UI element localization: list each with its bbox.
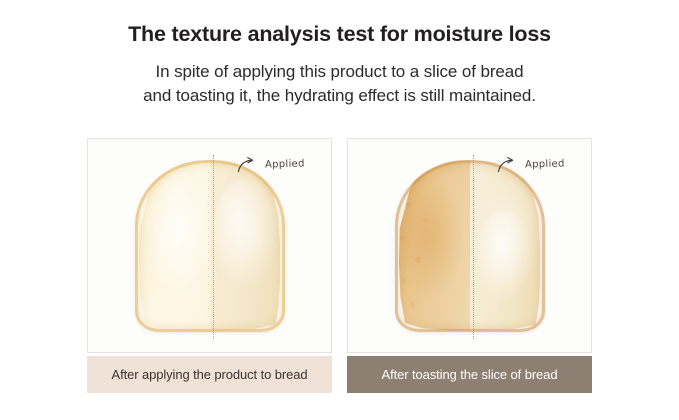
applied-label: Applied xyxy=(525,158,565,170)
caption-untoasted: After applying the product to bread xyxy=(87,356,332,393)
curved-arrow-icon xyxy=(496,155,522,173)
panel-toasted-bread: Applied xyxy=(347,138,592,353)
applied-annotation: Applied xyxy=(236,155,305,173)
subtitle-line-1: In spite of applying this product to a s… xyxy=(0,60,679,85)
caption-toasted: After toasting the slice of bread xyxy=(347,356,592,393)
curved-arrow-icon xyxy=(236,155,262,173)
bread-slice-untoasted xyxy=(135,160,285,332)
bread-slice-toasted xyxy=(395,160,545,332)
dotted-divider-icon xyxy=(473,155,474,339)
subtitle: In spite of applying this product to a s… xyxy=(0,48,679,109)
panel-untoasted-bread: Applied xyxy=(87,138,332,353)
dotted-divider-icon xyxy=(213,155,214,339)
applied-label: Applied xyxy=(265,158,305,170)
toast-crust-rim xyxy=(395,160,545,332)
page-title: The texture analysis test for moisture l… xyxy=(0,0,679,48)
bread-crust-rim xyxy=(135,160,285,332)
applied-annotation: Applied xyxy=(496,155,565,173)
subtitle-line-2: and toasting it, the hydrating effect is… xyxy=(0,84,679,109)
header: The texture analysis test for moisture l… xyxy=(0,0,679,109)
